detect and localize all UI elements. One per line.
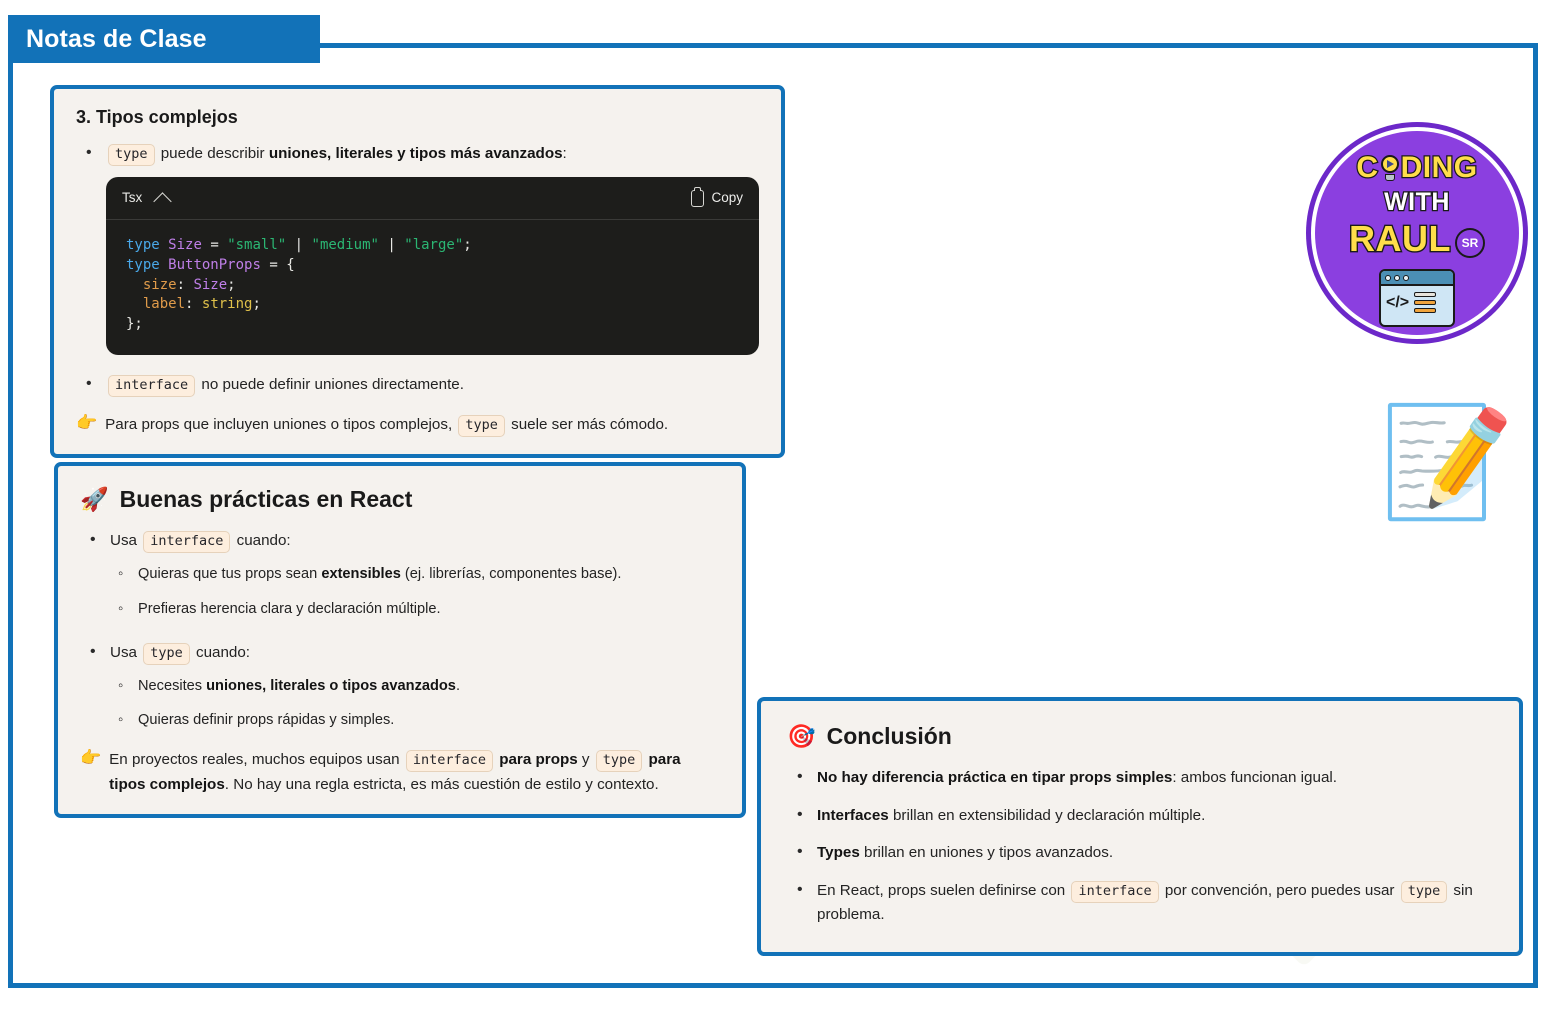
window-code-lines [1414,292,1436,313]
list-item: Usa interface cuando: Quieras que tus pr… [80,529,720,621]
list-item: No hay diferencia práctica en tipar prop… [787,766,1493,790]
item-bold: Interfaces [817,807,889,824]
list-item: En React, props suelen definirse con int… [787,879,1493,926]
inline-code-chip-interface: interface [406,750,493,772]
item-text-before: En React, props suelen definirse con [817,882,1069,899]
pointing-right-hand-icon: 👉 [80,749,101,766]
logo-raul-text: RAUL [1349,221,1451,257]
item-bold: Types [817,844,860,861]
rocket-icon: 🚀 [80,488,109,511]
dart-target-icon: 🎯 [787,725,816,748]
list-item: interface no puede definir uniones direc… [76,373,759,397]
tip-text: En proyectos reales, muchos equipos usan… [109,748,720,797]
sub-text-before: Necesites [138,678,206,694]
list-item: Types brillan en uniones y tipos avanzad… [787,841,1493,865]
card-title-buenas-practicas: 🚀 Buenas prácticas en React [80,486,720,513]
sub-text-before: Quieras definir props rápidas y simples. [138,712,394,728]
card-buenas-practicas: 🚀 Buenas prácticas en React Usa interfac… [54,462,746,818]
list-item: Quieras que tus props sean extensibles (… [110,564,720,586]
window-code-line [1414,292,1436,297]
group-label-after: cuando: [232,532,290,549]
sub-text-bold: uniones, literales o tipos avanzados [206,678,456,694]
list-item: Quieras definir props rápidas y simples. [110,710,720,732]
code-language-label: Tsx [122,188,142,209]
code-brackets-glyph: </> [1386,295,1409,311]
logo-line-coding-rest: DING [1401,153,1478,183]
sub-list: Necesites uniones, literales o tipos ava… [110,676,720,733]
inline-code-chip-type: type [458,415,505,437]
group-label-before: Usa [110,644,141,661]
code-block-header: Tsx Copy [106,177,759,220]
tip-note-buenas-practicas: 👉 En proyectos reales, muchos equipos us… [80,748,720,797]
item-text: brillan en extensibilidad y declaración … [889,807,1206,824]
card-conclusion: 🎯 Conclusión No hay diferencia práctica … [757,697,1523,956]
tip-p5: . No hay una regla estricta, es más cues… [225,776,659,793]
group-label-before: Usa [110,532,141,549]
clipboard-icon [691,190,704,207]
pointing-right-hand-icon: 👉 [76,414,97,431]
page-title-tab: Notas de Clase [8,15,320,63]
window-code-line [1414,308,1436,313]
card-title-text: Conclusión [827,723,952,750]
inline-code-chip-type: type [1401,881,1448,903]
code-block-tsx: Tsx Copy type Size = "small" | "medium" … [106,177,759,355]
item-text: : ambos funcionan igual. [1172,769,1337,786]
item-bold: No hay diferencia práctica en tipar prop… [817,769,1172,786]
inline-code-chip-type: type [596,750,643,772]
lightbulb-play-icon [1380,155,1400,181]
logo-letter-c: C [1356,153,1378,183]
list-item: Necesites uniones, literales o tipos ava… [110,676,720,698]
list-item: Prefieras herencia clara y declaración m… [110,599,720,621]
sub-text-before: Quieras que tus props sean [138,566,321,582]
buenas-practicas-list: Usa interface cuando: Quieras que tus pr… [80,529,720,732]
window-body: </> [1381,286,1453,319]
tip-p3: y [578,751,594,768]
bullet-text-tail: : [563,145,567,162]
group-label-after: cuando: [192,644,250,661]
copy-button-label: Copy [711,188,743,209]
logo-line-coding: C DING [1356,153,1477,183]
tip-text: Para props que incluyen uniones o tipos … [105,413,668,438]
chevron-up-icon[interactable] [154,192,172,210]
coding-with-raul-logo: C DING WITH RAUL SR </> [1315,131,1519,335]
inline-code-chip-interface: interface [1071,881,1158,903]
item-text-middle: por convención, pero puedes usar [1161,882,1399,899]
tipos-bullet-list: type puede describir uniones, literales … [76,142,759,397]
tip-p2-bold: para props [499,751,578,768]
code-block-content: type Size = "small" | "medium" | "large"… [106,220,759,355]
window-dot [1394,275,1400,281]
item-text: brillan en uniones y tipos avanzados. [860,844,1113,861]
window-titlebar [1381,271,1453,286]
sub-list: Quieras que tus props sean extensibles (… [110,564,720,621]
tip-p1: En proyectos reales, muchos equipos usan [109,751,404,768]
logo-line-raul: RAUL SR [1349,221,1485,257]
inline-code-chip-type: type [143,643,190,665]
card-tipos-complejos: 3. Tipos complejos type puede describir … [50,85,785,458]
sub-text-before: Prefieras herencia clara y declaración m… [138,601,441,617]
memo-notepad-icon: 📝 [1380,408,1514,516]
copy-button[interactable]: Copy [691,188,743,209]
sub-text-after: (ej. librerías, componentes base). [401,566,622,582]
list-item: Interfaces brillan en extensibilidad y d… [787,804,1493,828]
inline-code-chip-interface: interface [143,531,230,553]
card-title-text: Buenas prácticas en React [120,486,413,513]
inline-code-chip-type: type [108,144,155,166]
inline-code-chip-interface: interface [108,375,195,397]
conclusion-list: No hay diferencia práctica en tipar prop… [787,766,1493,926]
window-dot [1385,275,1391,281]
card-title-conclusion: 🎯 Conclusión [787,723,1493,750]
list-item: Usa type cuando: Necesites uniones, lite… [80,641,720,733]
tip-note-tipos: 👉 Para props que incluyen uniones o tipo… [76,413,759,438]
window-dot [1403,275,1409,281]
logo-line-with: WITH [1384,190,1450,215]
bullet-text: no puede definir uniones directamente. [197,376,464,393]
tip-text-after: suele ser más cómodo. [507,416,668,433]
list-item: type puede describir uniones, literales … [76,142,759,355]
sub-text-after: . [456,678,460,694]
bullet-text: puede describir [157,145,269,162]
tip-text-before: Para props que incluyen uniones o tipos … [105,416,456,433]
code-window-icon: </> [1379,269,1455,327]
logo-sr-badge: SR [1455,228,1485,258]
card-title-tipos-complejos: 3. Tipos complejos [76,107,759,128]
page-title: Notas de Clase [8,25,207,54]
window-code-line [1414,300,1436,305]
bullet-text-bold: uniones, literales y tipos más avanzados [269,145,563,162]
sub-text-bold: extensibles [321,566,401,582]
